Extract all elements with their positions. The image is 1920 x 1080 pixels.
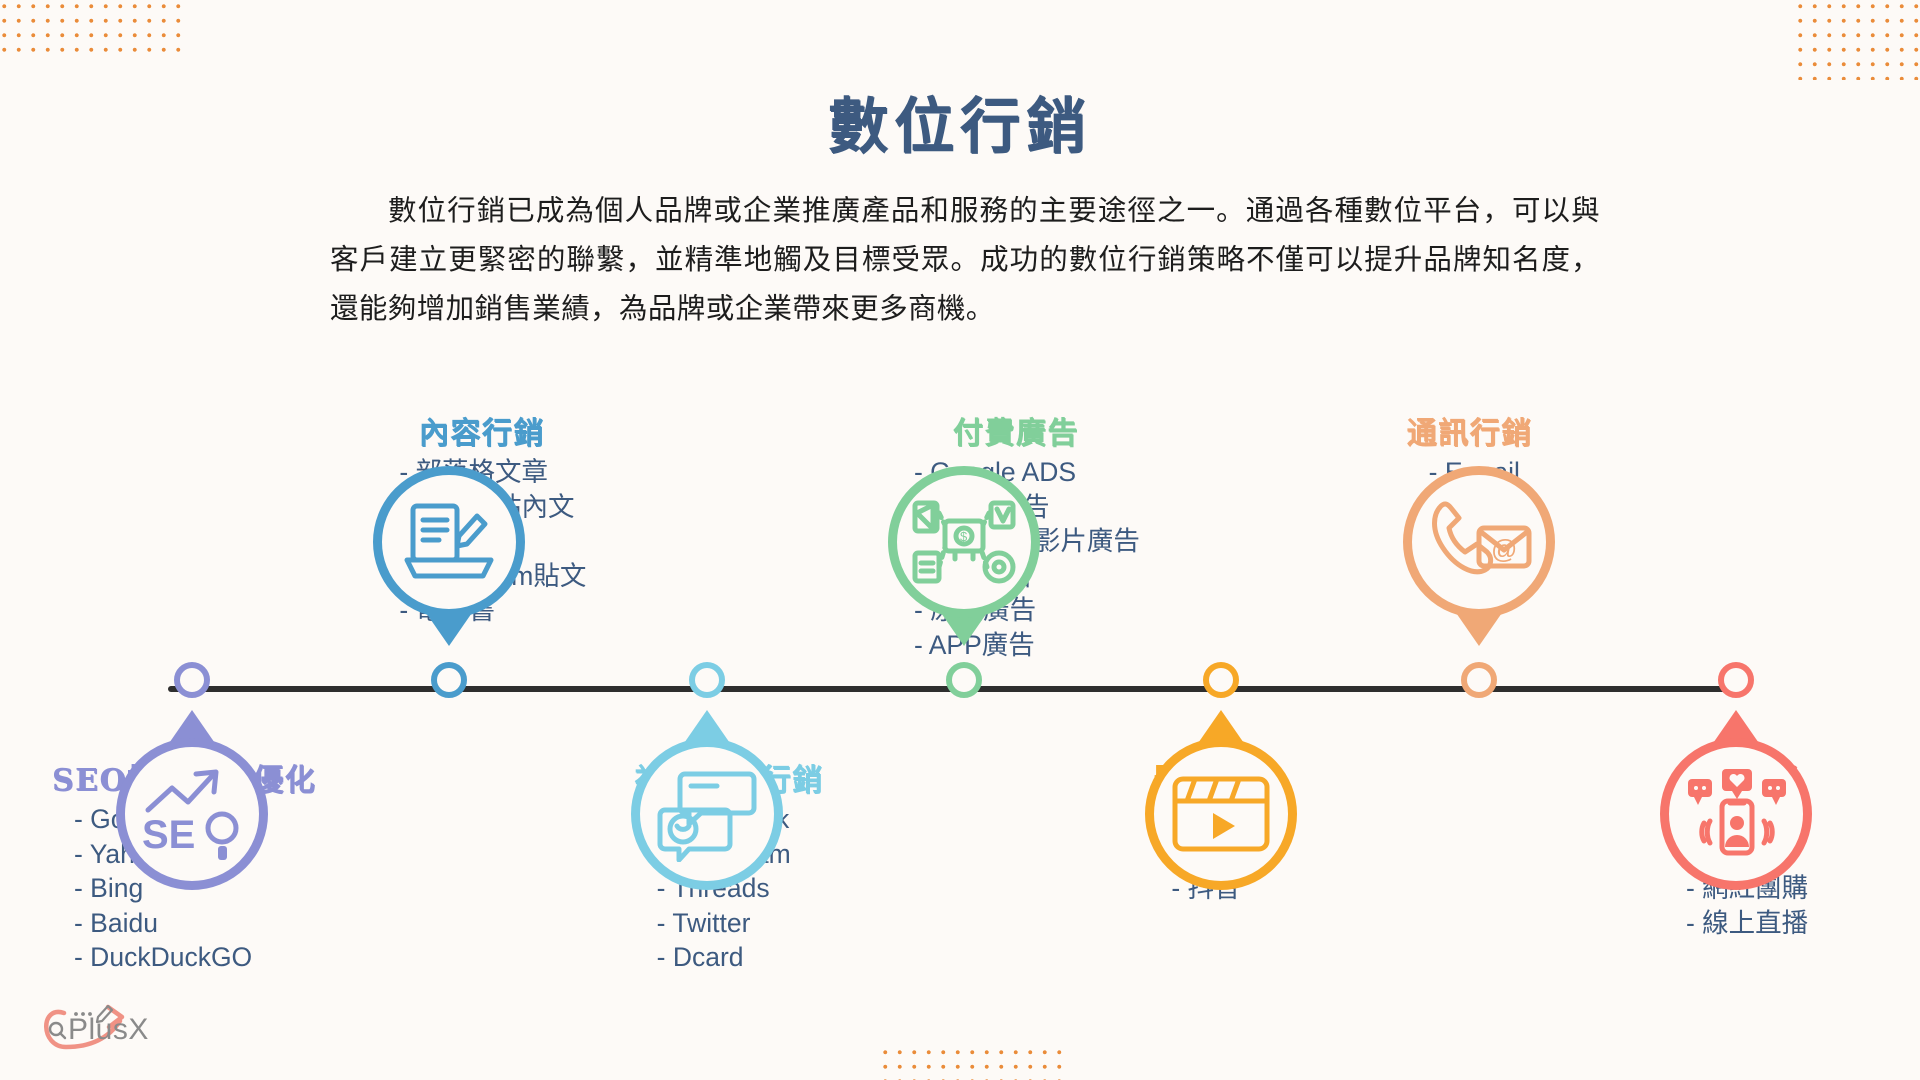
timeline-node-paid[interactable] xyxy=(946,662,982,698)
block-title-paid: 付費廣告 xyxy=(892,408,1140,452)
infographic-canvas: 數位行銷 數位行銷已成為個人品牌或企業推廣產品和服務的主要途徑之一。通過各種數位… xyxy=(0,0,1920,1080)
video-player-icon xyxy=(1145,738,1297,890)
pin-content[interactable] xyxy=(373,466,525,644)
svg-text:@: @ xyxy=(1491,534,1517,564)
pin-paid[interactable]: $ xyxy=(888,466,1040,644)
plusx-logo: PlusX xyxy=(20,995,170,1065)
dot-pattern-top-left xyxy=(0,0,190,62)
timeline-node-influencer[interactable] xyxy=(1718,662,1754,698)
pin-video[interactable] xyxy=(1145,712,1297,890)
document-laptop-pen-icon xyxy=(373,466,525,618)
seo-chart-magnifier-icon: SE xyxy=(116,738,268,890)
pin-messaging[interactable]: @ xyxy=(1403,466,1555,644)
block-title-messaging: 通訊行銷 xyxy=(1407,408,1533,452)
list-item: - Dcard xyxy=(657,940,824,975)
svg-text:$: $ xyxy=(960,529,968,544)
svg-text:SE: SE xyxy=(142,813,195,857)
timeline-node-social[interactable] xyxy=(689,662,725,698)
list-item: - 線上直播 xyxy=(1686,906,1808,941)
dot-pattern-bottom-center xyxy=(875,1042,1065,1080)
list-item: - DuckDuckGO xyxy=(74,940,316,975)
pin-social[interactable] xyxy=(631,712,783,890)
timeline-node-messaging[interactable] xyxy=(1461,662,1497,698)
phone-email-icon: @ xyxy=(1403,466,1555,618)
ads-network-icon: $ xyxy=(888,466,1040,618)
pin-influencer[interactable] xyxy=(1660,712,1812,890)
block-title-content: 內容行銷 xyxy=(377,408,586,452)
pin-seo[interactable]: SE xyxy=(116,712,268,890)
timeline-node-seo[interactable] xyxy=(174,662,210,698)
list-item: - Baidu xyxy=(74,906,316,941)
influencer-phone-heart-icon xyxy=(1660,738,1812,890)
dot-pattern-top-right xyxy=(1790,0,1920,80)
intro-paragraph: 數位行銷已成為個人品牌或企業推廣產品和服務的主要途徑之一。通過各種數位平台，可以… xyxy=(330,186,1600,333)
chat-bubbles-icon xyxy=(631,738,783,890)
timeline-node-content[interactable] xyxy=(431,662,467,698)
page-title: 數位行銷 xyxy=(0,78,1920,165)
timeline-node-video[interactable] xyxy=(1203,662,1239,698)
logo-text: PlusX xyxy=(68,1013,149,1047)
list-item: - Twitter xyxy=(657,906,824,941)
